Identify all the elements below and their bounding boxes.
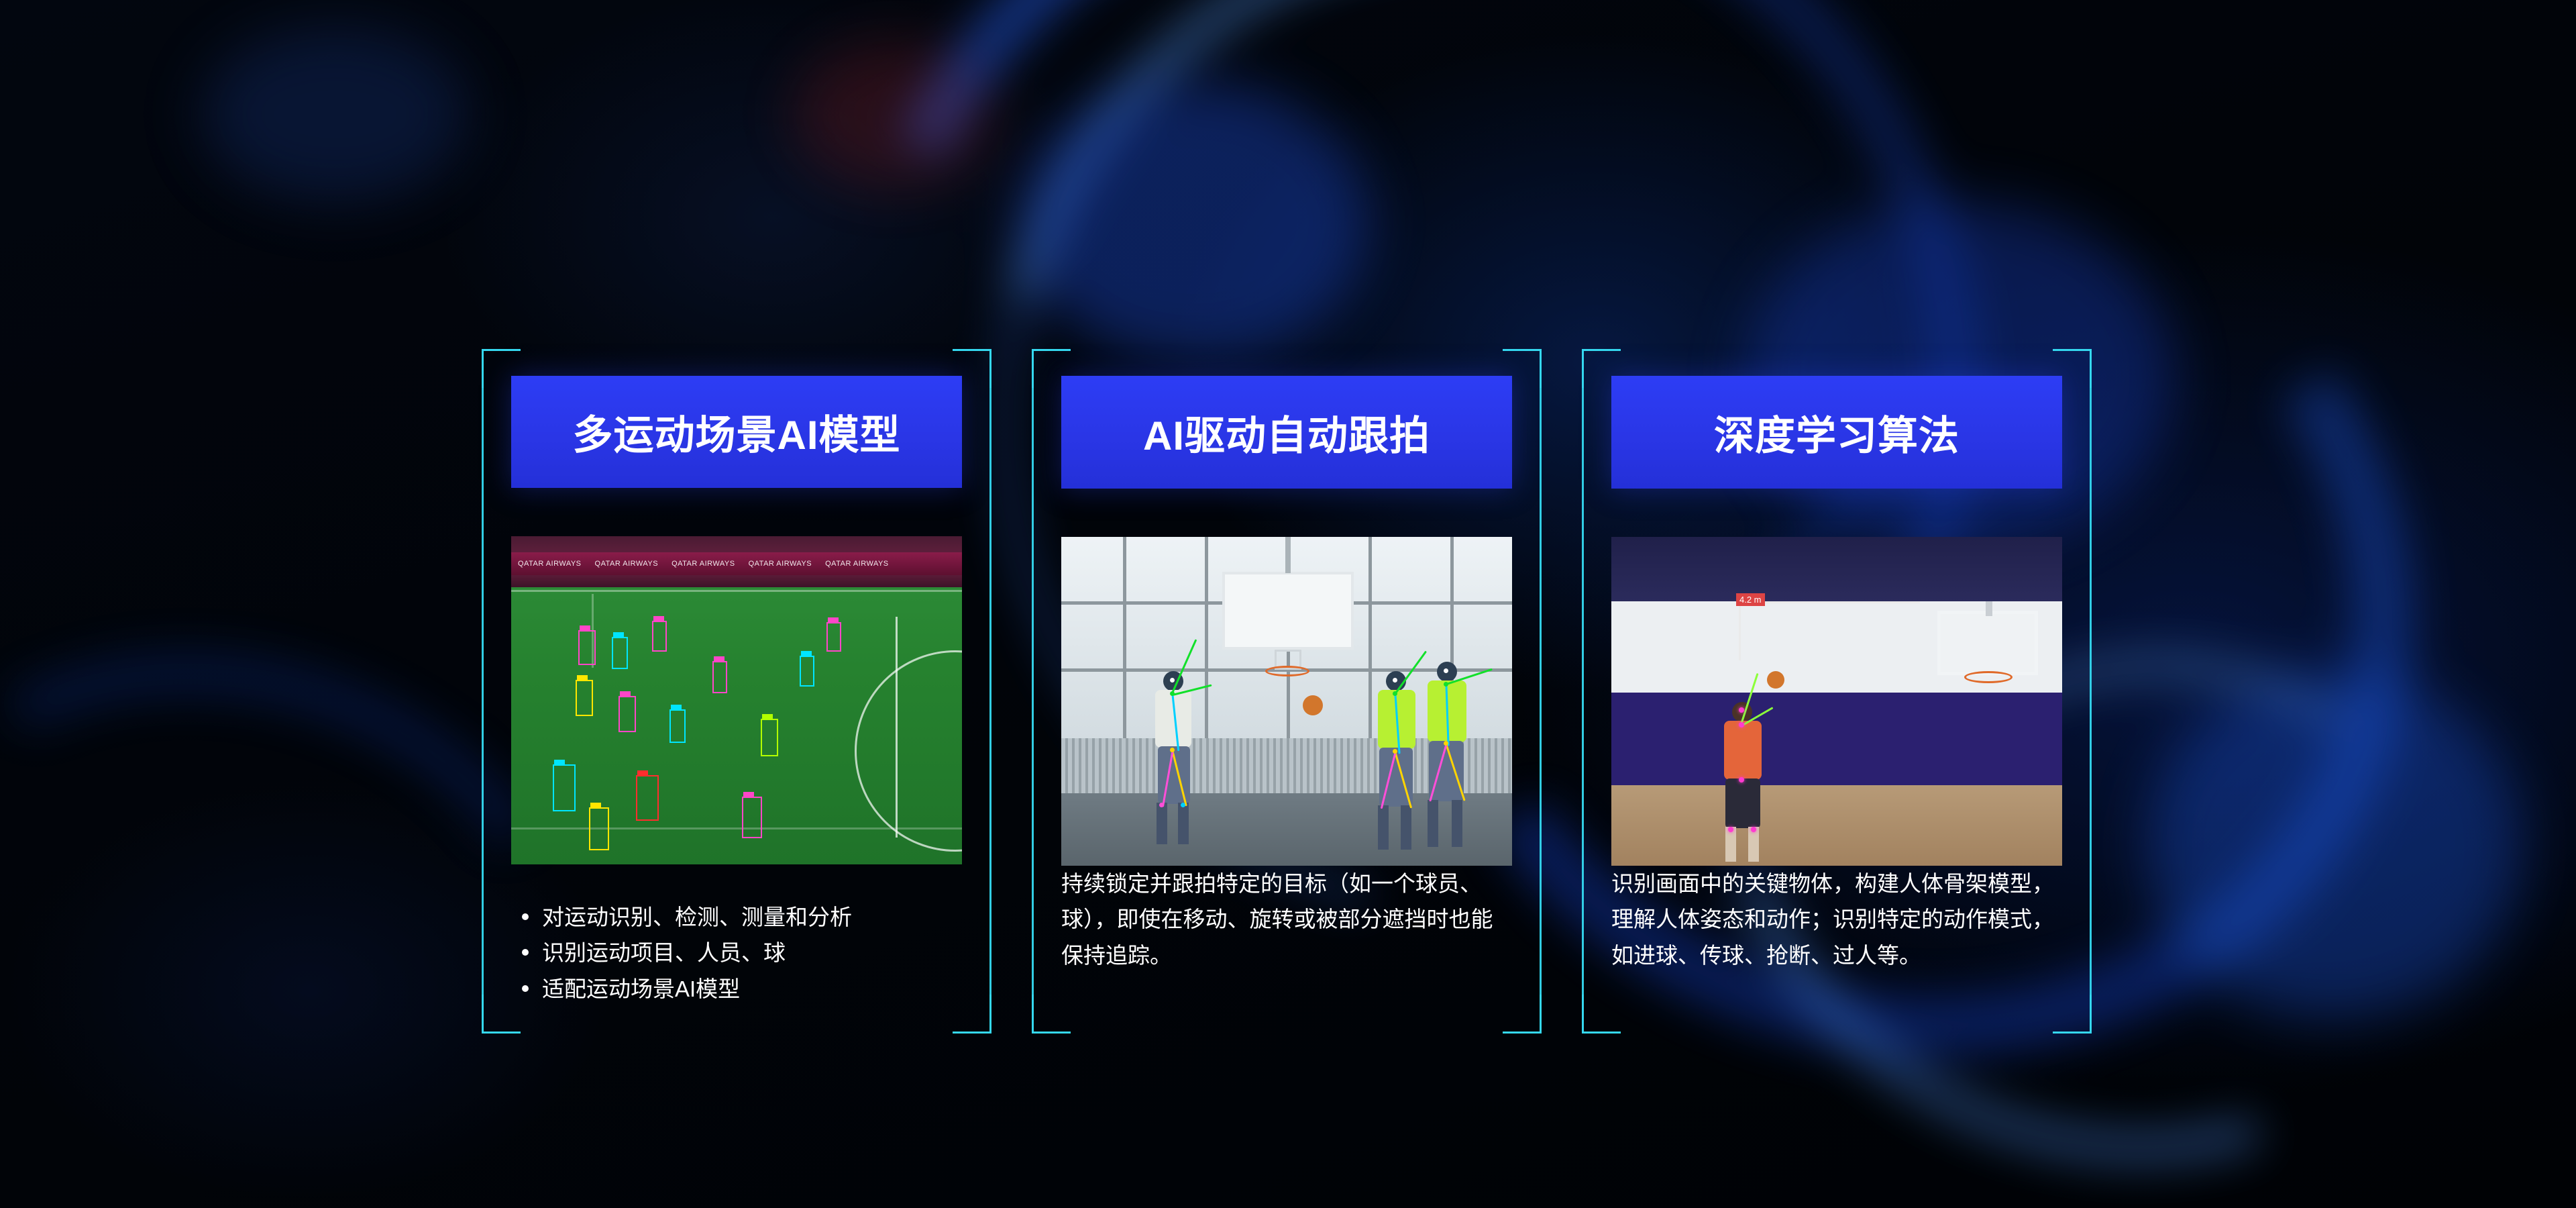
card-edge-right: [989, 388, 991, 995]
feature-card-row: 多运动场景AI模型 QATAR AIRWAYS QATAR AIRWAYS QA…: [482, 349, 2092, 1034]
card-edge-left: [482, 388, 484, 995]
list-item: 识别运动项目、人员、球: [542, 935, 962, 970]
card-multi-sport-ai-model[interactable]: 多运动场景AI模型 QATAR AIRWAYS QATAR AIRWAYS QA…: [482, 349, 991, 1034]
card-deep-learning-algorithm[interactable]: 深度学习算法 4.2 m: [1582, 349, 2092, 1034]
measurement-badge: 4.2 m: [1736, 593, 1765, 606]
card-bullet-list: 对运动识别、检测、测量和分析 识别运动项目、人员、球 适配运动场景AI模型: [511, 899, 962, 1007]
card-description: 持续锁定并跟拍特定的目标（如一个球员、球），即使在移动、旋转或被部分遮挡时也能保…: [1061, 866, 1512, 973]
advertising-board-text: QATAR AIRWAYS: [742, 560, 819, 568]
advertising-board-text: QATAR AIRWAYS: [665, 560, 742, 568]
advertising-board-text: QATAR AIRWAYS: [588, 560, 665, 568]
card-edge-left: [1032, 388, 1034, 995]
gym-basketball-pose-thumbnail: [1061, 537, 1512, 866]
card-ai-auto-tracking[interactable]: AI驱动自动跟拍: [1032, 349, 1542, 1034]
card-edge-right: [1540, 388, 1542, 995]
card-title: 深度学习算法: [1611, 376, 2062, 489]
card-title: AI驱动自动跟拍: [1061, 376, 1512, 489]
list-item: 对运动识别、检测、测量和分析: [542, 899, 962, 935]
card-title: 多运动场景AI模型: [511, 376, 962, 488]
advertising-board-text: QATAR AIRWAYS: [818, 560, 896, 568]
soccer-pitch-detection-thumbnail: QATAR AIRWAYS QATAR AIRWAYS QATAR AIRWAY…: [511, 536, 962, 864]
card-description: 识别画面中的关键物体，构建人体骨架模型，理解人体姿态和动作；识别特定的动作模式，…: [1611, 866, 2062, 973]
card-edge-right: [2090, 388, 2092, 995]
advertising-board-text: QATAR AIRWAYS: [511, 560, 588, 568]
list-item: 适配运动场景AI模型: [542, 971, 962, 1007]
card-edge-left: [1582, 388, 1584, 995]
indoor-court-measurement-thumbnail: 4.2 m: [1611, 537, 2062, 866]
